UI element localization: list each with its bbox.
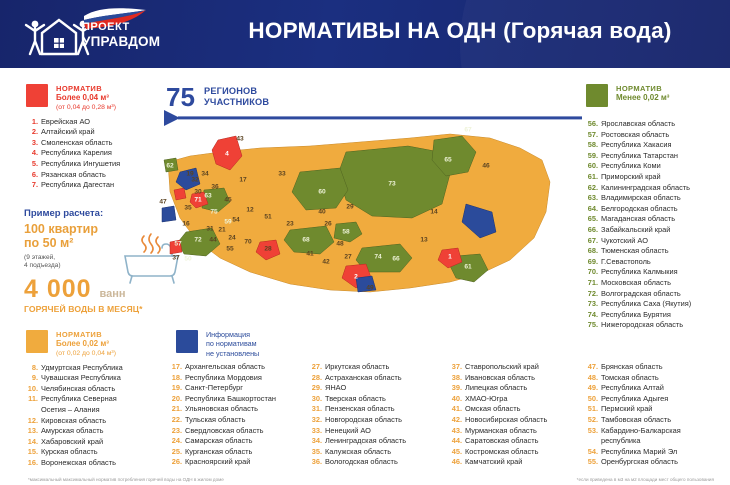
region-list-item: 54.Республика Марий Эл: [586, 447, 726, 458]
region-name: Астраханская область: [325, 373, 402, 382]
map-label-37[interactable]: 37: [172, 255, 179, 262]
page-title: НОРМАТИВЫ НА ОДН (Горячая вода): [200, 18, 720, 44]
region-number: 68.: [586, 246, 598, 257]
region-number: 24.: [170, 436, 182, 447]
region-name: республика: [601, 436, 641, 445]
regions-count-line-1: РЕГИОНОВ: [204, 86, 257, 96]
region-number: 56.: [586, 119, 598, 130]
region-name: Костромская область: [465, 447, 538, 456]
region-number: 34.: [310, 436, 322, 447]
region-number: 6.: [26, 170, 38, 181]
map-label-35[interactable]: 35: [184, 205, 191, 212]
region-name: Республика Ингушетия: [41, 159, 120, 168]
map-label-42[interactable]: 42: [322, 259, 329, 266]
map-label-33[interactable]: 33: [278, 171, 285, 178]
region-number: 72.: [586, 289, 598, 300]
map-label-46[interactable]: 46: [482, 163, 489, 170]
region-name: Республика Адыгея: [601, 394, 668, 403]
region-number: 67.: [586, 236, 598, 247]
region-name: Тульская область: [185, 415, 245, 424]
region-name: Новосибирская область: [465, 415, 547, 424]
region-name: Ярославская область: [601, 119, 675, 128]
map-label-74[interactable]: 74: [374, 254, 381, 261]
legend-green-swatch: [586, 84, 608, 107]
russia-choropleth-map[interactable]: 6743433173632341930624760654673294012512…: [150, 112, 580, 327]
map-label-40[interactable]: 40: [318, 209, 325, 216]
map-label-43[interactable]: 43: [236, 136, 243, 143]
region-number: 23.: [170, 426, 182, 437]
map-label-31[interactable]: 31: [206, 226, 213, 233]
footnote-right: *если приведена в м3 на м2 площади мест …: [577, 477, 714, 482]
region-number: 63.: [586, 193, 598, 204]
map-label-72[interactable]: 72: [194, 237, 201, 244]
region-list-item: 65.Магаданская область: [586, 214, 726, 225]
footnote-left: *максимальный максимальный норматив потр…: [28, 477, 224, 482]
map-label-32[interactable]: 32: [191, 177, 198, 184]
region-list-item: 34.Ленинградская область: [310, 436, 455, 447]
map-label-30[interactable]: 30: [194, 189, 201, 196]
region-list-item: 59.Республика Татарстан: [586, 151, 726, 162]
region-name: Вологодская область: [325, 457, 398, 466]
region-number: 21.: [170, 404, 182, 415]
region-list-item: 44.Саратовская область: [450, 436, 595, 447]
region-name: Калужская область: [325, 447, 391, 456]
region-name: Тюменская область: [601, 246, 669, 255]
legend-green-head: НОРМАТИВ Менее 0,02 м³: [586, 84, 726, 110]
map-label-73[interactable]: 73: [388, 181, 395, 188]
region-list-item: 61.Приморский край: [586, 172, 726, 183]
region-list-item: 73.Республика Саха (Якутия): [586, 299, 726, 310]
region-list-item: 31.Пензенская область: [310, 404, 455, 415]
region-list-item: 22.Тульская область: [170, 415, 320, 426]
region-list-item: 24.Самарская область: [170, 436, 320, 447]
regions-count-line-2: УЧАСТНИКОВ: [204, 97, 269, 107]
region-name: Ивановская область: [465, 373, 535, 382]
map-label-4[interactable]: 4: [225, 151, 229, 158]
map-label-50[interactable]: 50: [184, 256, 191, 263]
map-region-3: [174, 188, 186, 200]
region-number: 7.: [26, 180, 38, 191]
region-name: Рязанская область: [41, 170, 106, 179]
region-list-item: 23.Свердловская область: [170, 426, 320, 437]
region-list-item: 69.Г.Севастополь: [586, 257, 726, 268]
region-number: 31.: [310, 404, 322, 415]
map-label-68[interactable]: 68: [302, 237, 309, 244]
region-list-item: 33.Ненецкий АО: [310, 426, 455, 437]
map-label-71[interactable]: 71: [194, 197, 201, 204]
region-list-item: 47.Брянская область: [586, 362, 726, 373]
region-name: Томская область: [601, 373, 659, 382]
region-list-item: 27.Иркутская область: [310, 362, 455, 373]
region-list-item: 37.Ставропольский край: [450, 362, 595, 373]
region-number: 48.: [586, 373, 598, 384]
region-number: 3.: [26, 138, 38, 149]
region-list-item: 52.Тамбовская область: [586, 415, 726, 426]
region-name: Московская область: [601, 278, 671, 287]
map-region-blue-w: [162, 206, 176, 222]
region-name: Тамбовская область: [601, 415, 671, 424]
region-list-item: 43.Мурманская область: [450, 426, 595, 437]
map-label-24[interactable]: 24: [228, 235, 235, 242]
region-list-item: 45.Костромская область: [450, 447, 595, 458]
region-number: 39.: [450, 383, 462, 394]
region-name: Пензенская область: [325, 404, 395, 413]
region-list-item: 36.Вологодская область: [310, 457, 455, 468]
region-number: 45.: [450, 447, 462, 458]
map-label-60[interactable]: 60: [318, 189, 325, 196]
region-name: Ленинградская область: [325, 436, 406, 445]
region-list-item: 2.Алтайский край: [26, 127, 166, 138]
brand-wordmark: ПРОЕКТ УПРАВДОМ: [82, 22, 160, 49]
region-number: 4.: [26, 148, 38, 159]
region-name: Кабардино-Балкарская: [601, 426, 681, 435]
region-number: 29.: [310, 383, 322, 394]
map-label-19[interactable]: 19: [186, 171, 193, 178]
page-header: ПРОЕКТ УПРАВДОМ НОРМАТИВЫ НА ОДН (Горяча…: [0, 0, 730, 68]
region-number: 62.: [586, 183, 598, 194]
region-list-item: 58.Республика Хакасия: [586, 140, 726, 151]
region-list-item: 38.Ивановская область: [450, 373, 595, 384]
region-list-item: 68.Тюменская область: [586, 246, 726, 257]
region-number: 25.: [170, 447, 182, 458]
region-number: 54.: [586, 447, 598, 458]
region-list-item: 4.Республика Карелия: [26, 148, 166, 159]
region-name: Брянская область: [601, 362, 663, 371]
region-number: 58.: [586, 140, 598, 151]
map-label-66[interactable]: 66: [392, 256, 399, 263]
region-name: Алтайский край: [41, 127, 95, 136]
region-list-item: 40.ХМАО-Югра: [450, 394, 595, 405]
region-name: Оренбургская область: [601, 457, 678, 466]
map-label-28[interactable]: 28: [264, 246, 271, 253]
map-label-14[interactable]: 14: [430, 209, 437, 216]
region-name: Саратовская область: [465, 436, 538, 445]
map-label-75[interactable]: 75: [210, 209, 217, 216]
map-label-36[interactable]: 36: [211, 184, 218, 191]
region-name: Приморский край: [601, 172, 661, 181]
region-number: 65.: [586, 214, 598, 225]
region-name: Республика Марий Эл: [601, 447, 677, 456]
region-number: 38.: [450, 373, 462, 384]
legend-red-head: НОРМАТИВ Более 0,04 м³ (от 0,04 до 0,28 …: [26, 84, 166, 113]
region-number: 66.: [586, 225, 598, 236]
region-name: Республика Хакасия: [601, 140, 671, 149]
example-big-number: 4 000: [24, 275, 92, 303]
map-label-29[interactable]: 29: [346, 204, 353, 211]
region-name: Липецкая область: [465, 383, 527, 392]
map-label-27[interactable]: 27: [344, 254, 351, 261]
region-number: 19.: [170, 383, 182, 394]
region-name: Республика Башкортостан: [185, 394, 276, 403]
region-list-item: 55.Оренбургская область: [586, 457, 726, 468]
region-number: 33.: [310, 426, 322, 437]
region-list-item: 50.Республика Адыгея: [586, 394, 726, 405]
region-list-col-3: 37.Ставропольский край38.Ивановская обла…: [450, 362, 595, 468]
region-list-item: 6.Рязанская область: [26, 170, 166, 181]
legend-blue-line-3: не установлены: [206, 349, 296, 358]
map-label-67[interactable]: 67: [464, 127, 471, 134]
region-list-item: 18.Республика Мордовия: [170, 373, 320, 384]
brand-line-2: УПРАВДОМ: [82, 35, 160, 49]
region-list-item: 39.Липецкая область: [450, 383, 595, 394]
region-list-item: 48.Томская область: [586, 373, 726, 384]
region-name: Республика Дагестан: [41, 180, 114, 189]
region-name: Ставропольский край: [465, 362, 539, 371]
region-number: 50.: [586, 394, 598, 405]
region-name: Волгоградская область: [601, 289, 681, 298]
region-list-item: 42.Новосибирская область: [450, 415, 595, 426]
region-name: ХМАО-Югра: [465, 394, 507, 403]
example-big-unit: ванн: [100, 288, 126, 300]
region-name: Камчатский край: [465, 457, 522, 466]
region-number: 40.: [450, 394, 462, 405]
region-number: 5.: [26, 159, 38, 170]
region-name: Архангельская область: [185, 362, 265, 371]
map-label-44[interactable]: 44: [209, 237, 216, 244]
region-name: Ростовская область: [601, 130, 669, 139]
region-name: Ненецкий АО: [325, 426, 371, 435]
legend-red: НОРМАТИВ Более 0,04 м³ (от 0,04 до 0,28 …: [26, 84, 166, 191]
map-label-65[interactable]: 65: [444, 157, 451, 164]
region-number: 41.: [450, 404, 462, 415]
region-name: Магаданская область: [601, 214, 675, 223]
map-label-47[interactable]: 47: [159, 199, 166, 206]
region-number: 35.: [310, 447, 322, 458]
region-name: Забайкальский край: [601, 225, 670, 234]
region-list-item: 72.Волгоградская область: [586, 289, 726, 300]
region-name: Пермский край: [601, 404, 652, 413]
region-number: 53.: [586, 426, 598, 437]
region-name: Омская область: [465, 404, 520, 413]
region-number: 27.: [310, 362, 322, 373]
region-number: 55.: [586, 457, 598, 468]
region-list-item: 60.Республика Коми: [586, 161, 726, 172]
region-list-item: 7.Республика Дагестан: [26, 180, 166, 191]
map-label-70[interactable]: 70: [244, 239, 251, 246]
region-list-item: 25.Курганская область: [170, 447, 320, 458]
region-name: Смоленская область: [41, 138, 113, 147]
region-list-item: 29.ЯНАО: [310, 383, 455, 394]
region-list-item: 51.Пермский край: [586, 404, 726, 415]
region-name: Республика Саха (Якутия): [601, 299, 691, 308]
region-name: Чукотский АО: [601, 236, 648, 245]
region-list-item: 56.Ярославская область: [586, 119, 726, 130]
region-list-item: 75.Нижегородская область: [586, 320, 726, 331]
region-list-item: республика: [586, 436, 726, 447]
region-list-item: 74.Республика Бурятия: [586, 310, 726, 321]
legend-red-title: НОРМАТИВ: [56, 84, 166, 93]
legend-red-value: Более 0,04 м³: [56, 93, 166, 103]
region-list-item: 20.Республика Башкортостан: [170, 394, 320, 405]
map-label-54[interactable]: 54: [232, 217, 239, 224]
region-list-item: 41.Омская область: [450, 404, 595, 415]
region-number: 26.: [170, 457, 182, 468]
region-name: Республика Алтай: [601, 383, 664, 392]
region-name: Республика Бурятия: [601, 310, 671, 319]
region-list-green: 56.Ярославская область57.Ростовская обла…: [586, 119, 726, 331]
map-label-13[interactable]: 13: [420, 237, 427, 244]
region-list-item: 21.Ульяновская область: [170, 404, 320, 415]
region-list-col-2: 27.Иркутская область28.Астраханская обла…: [310, 362, 455, 468]
region-list-item: 46.Камчатский край: [450, 457, 595, 468]
region-name: Курганская область: [185, 447, 252, 456]
region-name: Мурманская область: [465, 426, 537, 435]
region-list-item: 26.Красноярский край: [170, 457, 320, 468]
region-number: 44.: [450, 436, 462, 447]
region-list-col-1: 17.Архангельская область18.Республика Мо…: [170, 362, 320, 468]
region-list-item: 62.Калининградская область: [586, 183, 726, 194]
region-number: 20.: [170, 394, 182, 405]
map-label-51[interactable]: 51: [264, 214, 271, 221]
region-number: 51.: [586, 404, 598, 415]
region-number: 74.: [586, 310, 598, 321]
region-name: Республика Мордовия: [185, 373, 262, 382]
region-number: 57.: [586, 130, 598, 141]
region-list-item: 57.Ростовская область: [586, 130, 726, 141]
region-number: 1.: [26, 117, 38, 128]
region-name: Республика Калмыкия: [601, 267, 678, 276]
region-number: 46.: [450, 457, 462, 468]
map-label-48[interactable]: 48: [336, 241, 343, 248]
bottom-region-columns: 17.Архангельская область18.Республика Мо…: [0, 362, 730, 470]
region-list-item: 35.Калужская область: [310, 447, 455, 458]
region-name: Иркутская область: [325, 362, 389, 371]
legend-orange-range: (от 0,02 до 0,04 м³): [56, 350, 176, 359]
region-name: Нижегородская область: [601, 320, 683, 329]
region-number: 30.: [310, 394, 322, 405]
region-number: 22.: [170, 415, 182, 426]
region-number: 59.: [586, 151, 598, 162]
region-name: ЯНАО: [325, 383, 346, 392]
region-name: Республика Коми: [601, 161, 661, 170]
region-name: Владимирская область: [601, 193, 681, 202]
map-label-61[interactable]: 61: [464, 264, 471, 271]
map-label-26[interactable]: 26: [324, 221, 331, 228]
legend-green: НОРМАТИВ Менее 0,02 м³ 56.Ярославская об…: [586, 84, 726, 331]
region-name: Самарская область: [185, 436, 252, 445]
region-name: Санкт-Петербург: [185, 383, 243, 392]
region-name: Калининградская область: [601, 183, 690, 192]
region-list-item: 66.Забайкальский край: [586, 225, 726, 236]
map-shapes: [150, 112, 580, 327]
region-list-col-4: 47.Брянская область48.Томская область49.…: [586, 362, 726, 468]
legend-green-title: НОРМАТИВ: [616, 84, 726, 93]
region-list-item: 28.Астраханская область: [310, 373, 455, 384]
region-list-item: 64.Белгородская область: [586, 204, 726, 215]
region-list-item: 70.Республика Калмыкия: [586, 267, 726, 278]
region-number: 61.: [586, 172, 598, 183]
legend-blue-line-2: по нормативам: [206, 339, 296, 348]
map-label-12[interactable]: 12: [246, 207, 253, 214]
region-name: Красноярский край: [185, 457, 250, 466]
map-label-2[interactable]: 2: [354, 274, 358, 281]
region-list-item: 1.Еврейская АО: [26, 117, 166, 128]
map-label-58[interactable]: 58: [342, 229, 349, 236]
region-name: Тверская область: [325, 394, 386, 403]
legend-blue: Информация по нормативам не установлены: [176, 330, 296, 358]
region-list-item: 49.Республика Алтай: [586, 383, 726, 394]
legend-orange-swatch: [26, 330, 48, 353]
region-name: Новгородская область: [325, 415, 402, 424]
map-label-1[interactable]: 1: [448, 254, 452, 261]
legend-red-swatch: [26, 84, 48, 107]
map-label-49[interactable]: 49: [366, 285, 373, 292]
region-number: 64.: [586, 204, 598, 215]
region-list-item: 71.Московская область: [586, 278, 726, 289]
map-label-23[interactable]: 23: [286, 221, 293, 228]
region-number: 69.: [586, 257, 598, 268]
map-label-57[interactable]: 57: [174, 241, 181, 248]
map-label-55[interactable]: 55: [226, 246, 233, 253]
region-list-item: 17.Архангельская область: [170, 362, 320, 373]
map-label-59[interactable]: 59: [224, 219, 231, 226]
map-label-16[interactable]: 16: [182, 221, 189, 228]
region-number: 17.: [170, 362, 182, 373]
region-list-red: 1.Еврейская АО2.Алтайский край3.Смоленск…: [26, 117, 166, 191]
region-number: 36.: [310, 457, 322, 468]
region-name: Г.Севастополь: [601, 257, 651, 266]
legend-blue-swatch: [176, 330, 198, 353]
map-label-17[interactable]: 17: [239, 177, 246, 184]
region-name: Республика Карелия: [41, 148, 112, 157]
region-name: Свердловская область: [185, 426, 264, 435]
brand-line-1: ПРОЕКТ: [82, 22, 160, 33]
region-list-item: 63.Владимирская область: [586, 193, 726, 204]
region-number: 2.: [26, 127, 38, 138]
region-list-item: 32.Новгородская область: [310, 415, 455, 426]
map-label-63[interactable]: 63: [204, 193, 211, 200]
legend-orange-value: Более 0,02 м³: [56, 339, 176, 349]
map-label-34[interactable]: 34: [201, 171, 208, 178]
region-list-item: 67.Чукотский АО: [586, 236, 726, 247]
region-list-item: 53.Кабардино-Балкарская: [586, 426, 726, 437]
legend-orange-head: НОРМАТИВ Более 0,02 м³ (от 0,02 до 0,04 …: [26, 330, 176, 359]
region-number: 42.: [450, 415, 462, 426]
region-number: 43.: [450, 426, 462, 437]
legend-blue-head: Информация по нормативам не установлены: [176, 330, 296, 358]
region-name: Белгородская область: [601, 204, 678, 213]
legend-green-value: Менее 0,02 м³: [616, 93, 726, 103]
brand-logo[interactable]: ПРОЕКТ УПРАВДОМ: [20, 8, 180, 60]
region-number: 52.: [586, 415, 598, 426]
map-label-62[interactable]: 62: [166, 163, 173, 170]
region-list-item: 30.Тверская область: [310, 394, 455, 405]
region-list-item: 19.Санкт-Петербург: [170, 383, 320, 394]
region-list-item: 5.Республика Ингушетия: [26, 159, 166, 170]
region-number: 49.: [586, 383, 598, 394]
region-number: 37.: [450, 362, 462, 373]
region-number: 70.: [586, 267, 598, 278]
region-list-item: 3.Смоленская область: [26, 138, 166, 149]
region-name: Республика Татарстан: [601, 151, 678, 160]
regions-count-number: 75: [166, 84, 195, 110]
region-number: 73.: [586, 299, 598, 310]
region-number: 60.: [586, 161, 598, 172]
region-number: 18.: [170, 373, 182, 384]
map-label-21[interactable]: 21: [218, 227, 225, 234]
map-label-45[interactable]: 45: [224, 197, 231, 204]
map-label-41[interactable]: 41: [306, 251, 313, 258]
region-number: 28.: [310, 373, 322, 384]
region-number: 47.: [586, 362, 598, 373]
region-name: Еврейская АО: [41, 117, 90, 126]
region-name: Ульяновская область: [185, 404, 258, 413]
region-number: 71.: [586, 278, 598, 289]
region-number: 75.: [586, 320, 598, 331]
region-number: 32.: [310, 415, 322, 426]
